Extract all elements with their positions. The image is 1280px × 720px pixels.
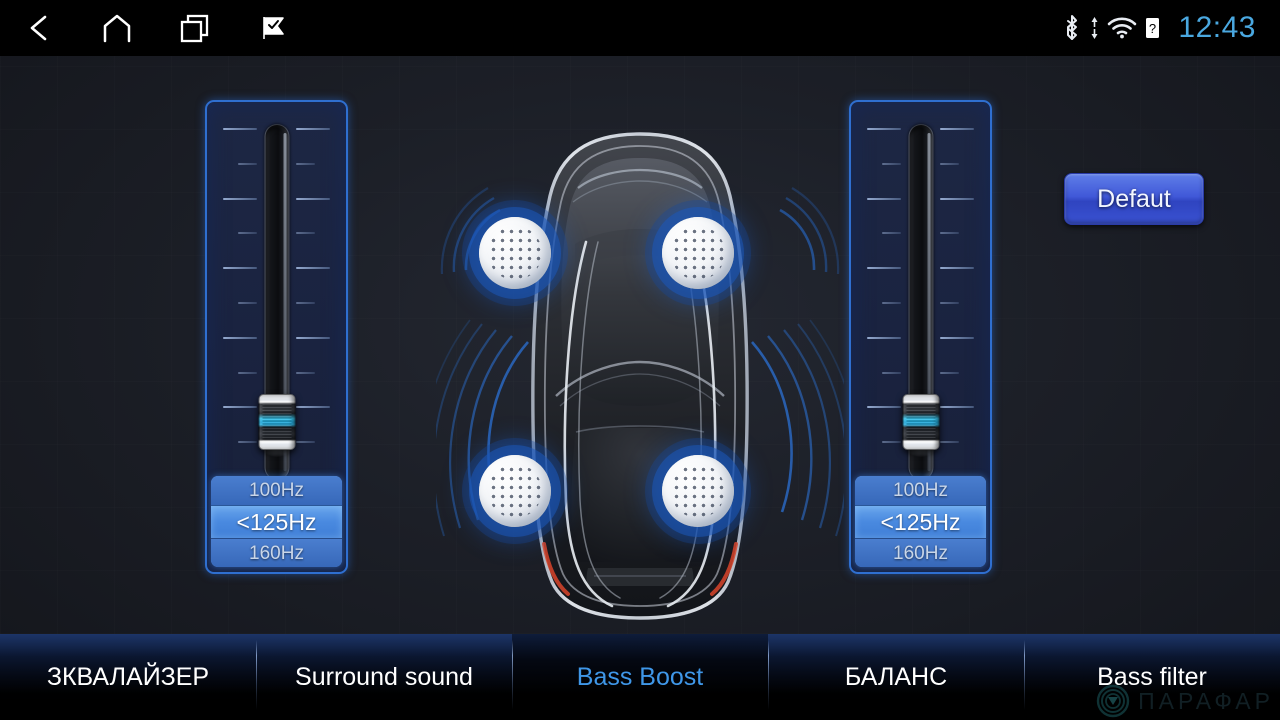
settings-content: 100Hz <125Hz 160Hz	[0, 56, 1280, 634]
car-body-illustration	[436, 92, 844, 634]
tick-mark	[296, 128, 330, 130]
tick-mark	[940, 128, 974, 130]
status-icon-group: ? 12:43	[1062, 11, 1280, 45]
tick-mark	[940, 232, 959, 234]
default-button[interactable]: Defaut	[1064, 173, 1204, 225]
front-frequency-options[interactable]: 100Hz <125Hz 160Hz	[211, 476, 342, 567]
freq-option-160hz[interactable]: 160Hz	[211, 538, 342, 567]
freq-option-100hz[interactable]: 100Hz	[211, 476, 342, 505]
windows-stack-icon	[179, 13, 211, 43]
flag-check-icon	[259, 14, 287, 42]
flag-button[interactable]	[234, 0, 312, 56]
clock: 12:43	[1168, 11, 1272, 45]
tick-mark	[296, 267, 330, 269]
chevron-left-icon	[26, 13, 52, 43]
tick-mark	[867, 128, 901, 130]
speaker-rear-right[interactable]	[662, 455, 734, 527]
home-button[interactable]	[78, 0, 156, 56]
wifi-icon	[1107, 16, 1137, 40]
tick-mark	[867, 337, 901, 339]
home-icon	[101, 13, 133, 43]
tick-mark	[296, 441, 315, 443]
tick-mark	[882, 441, 901, 443]
tick-mark	[296, 406, 330, 408]
tick-mark	[238, 232, 257, 234]
freq-option-160hz[interactable]: 160Hz	[855, 538, 986, 567]
tick-mark	[223, 337, 257, 339]
tick-marks-right	[296, 128, 332, 476]
freq-option-100hz[interactable]: 100Hz	[855, 476, 986, 505]
slider-knob[interactable]	[902, 394, 939, 450]
tab-surround-sound[interactable]: Surround sound	[256, 634, 512, 720]
tick-mark	[296, 198, 330, 200]
default-button-label: Defaut	[1097, 185, 1171, 214]
rear-bass-slider-panel[interactable]: 100Hz <125Hz 160Hz	[849, 100, 992, 574]
slider-knob[interactable]	[258, 394, 295, 450]
rear-bass-slider-track-area[interactable]	[851, 102, 990, 502]
tick-mark	[882, 372, 901, 374]
tick-mark	[238, 372, 257, 374]
front-bass-slider-panel[interactable]: 100Hz <125Hz 160Hz	[205, 100, 348, 574]
bottom-tab-bar: ЗКВАЛАЙЗЕР Surround sound Bass Boost БАЛ…	[0, 634, 1280, 720]
sim-card-icon: ?	[1144, 16, 1161, 40]
tick-mark	[867, 198, 901, 200]
tab-bass-boost[interactable]: Bass Boost	[512, 634, 768, 720]
speaker-front-right[interactable]	[662, 217, 734, 289]
front-bass-slider-track-area[interactable]	[207, 102, 346, 502]
car-outline	[533, 134, 747, 618]
tab-label: БАЛАНС	[845, 663, 947, 692]
status-bar: ? 12:43	[0, 0, 1280, 56]
tick-mark	[882, 232, 901, 234]
tick-mark	[223, 406, 257, 408]
tick-mark	[238, 302, 257, 304]
tick-mark	[882, 163, 901, 165]
tab-label: Bass Boost	[577, 663, 703, 692]
tick-mark	[940, 198, 974, 200]
tick-mark	[882, 302, 901, 304]
tab-label: Surround sound	[295, 663, 473, 692]
tick-mark	[296, 163, 315, 165]
tick-mark	[867, 406, 901, 408]
tick-mark	[867, 267, 901, 269]
recents-button[interactable]	[156, 0, 234, 56]
tick-mark	[296, 232, 315, 234]
sound-waves-front-right	[780, 188, 838, 274]
speaker-rear-left[interactable]	[479, 455, 551, 527]
bluetooth-icon	[1062, 13, 1082, 43]
tick-mark	[223, 198, 257, 200]
tick-mark	[940, 163, 959, 165]
freq-option-125hz[interactable]: <125Hz	[211, 505, 342, 538]
tick-mark	[940, 337, 974, 339]
tab-bass-filter[interactable]: Bass filter	[1024, 634, 1280, 720]
tick-mark	[223, 267, 257, 269]
tick-marks-right	[940, 128, 976, 476]
rear-frequency-options[interactable]: 100Hz <125Hz 160Hz	[855, 476, 986, 567]
tab-label: ЗКВАЛАЙЗЕР	[47, 663, 209, 692]
back-button[interactable]	[0, 0, 78, 56]
tick-mark	[940, 302, 959, 304]
data-transfer-icon	[1089, 15, 1100, 41]
tick-mark	[223, 128, 257, 130]
tick-mark	[296, 337, 330, 339]
tick-mark	[238, 163, 257, 165]
tab-balance[interactable]: БАЛАНС	[768, 634, 1024, 720]
audio-settings-screen: ? 12:43 100Hz <125Hz 160Hz	[0, 0, 1280, 720]
car-speaker-diagram	[436, 92, 844, 634]
tick-marks-left	[221, 128, 257, 476]
tick-mark	[940, 267, 974, 269]
tick-mark	[296, 302, 315, 304]
freq-option-125hz[interactable]: <125Hz	[855, 505, 986, 538]
tick-mark	[940, 441, 959, 443]
sound-waves-rear-right	[752, 320, 844, 542]
tick-mark	[296, 372, 315, 374]
tick-marks-left	[865, 128, 901, 476]
tick-mark	[940, 406, 974, 408]
tab-equalizer[interactable]: ЗКВАЛАЙЗЕР	[0, 634, 256, 720]
tick-mark	[940, 372, 959, 374]
speaker-front-left[interactable]	[479, 217, 551, 289]
tick-mark	[238, 441, 257, 443]
tab-label: Bass filter	[1097, 663, 1207, 692]
svg-text:?: ?	[1149, 21, 1156, 36]
